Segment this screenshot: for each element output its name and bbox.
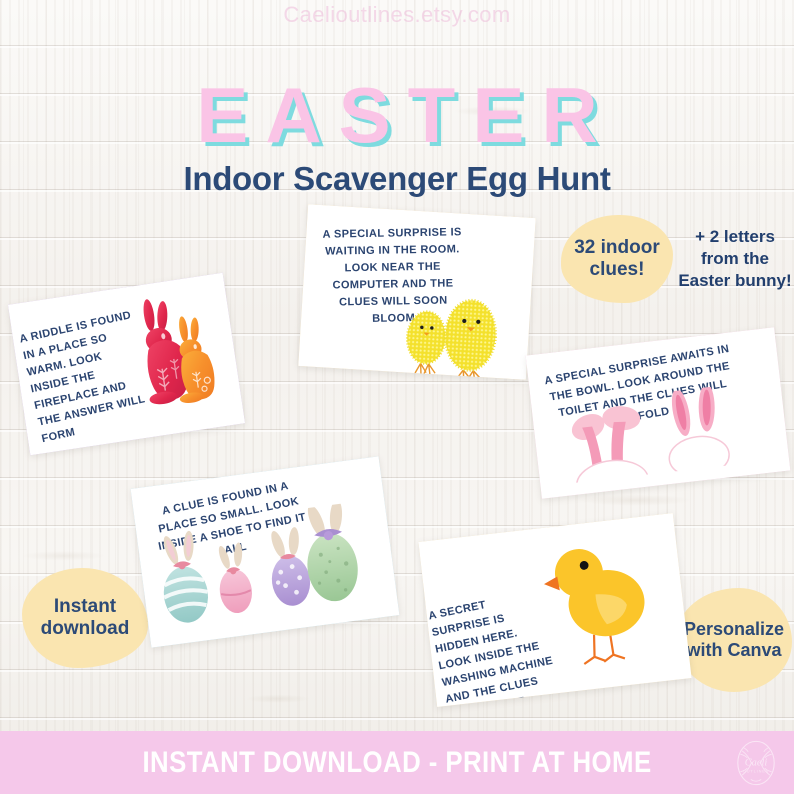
brand-logo: Caeli OUTLINES xyxy=(730,737,782,789)
clue-card-bunny-ears: A SPECIAL SURPRISE AWAITS IN THE BOWL. L… xyxy=(526,327,791,498)
card-inner: A RIDDLE IS FOUND IN A PLACE SO WARM. LO… xyxy=(8,273,245,455)
clue-card-bunnies: A RIDDLE IS FOUND IN A PLACE SO WARM. LO… xyxy=(8,273,245,455)
letters-note: + 2 letters from the Easter bunny! xyxy=(676,226,794,291)
fuzzy-chicks-art xyxy=(394,284,511,380)
card-inner: A SECRET SURPRISE IS HIDDEN HERE. LOOK I… xyxy=(418,513,691,707)
badge-indoor-clues: 32 indoor clues! xyxy=(561,215,673,303)
clue-card-chicks: A SPECIAL SURPRISE IS WAITING IN THE ROO… xyxy=(298,204,535,380)
page-title: EASTER xyxy=(0,78,794,152)
card-inner: A SPECIAL SURPRISE AWAITS IN THE BOWL. L… xyxy=(526,327,791,498)
card-inner: A CLUE IS FOUND IN A PLACE SO SMALL. LOO… xyxy=(131,456,400,647)
watercolor-bunnies-art xyxy=(127,289,226,418)
card-inner: A SPECIAL SURPRISE IS WAITING IN THE ROO… xyxy=(298,204,535,380)
bottom-banner: INSTANT DOWNLOAD - PRINT AT HOME Caeli O… xyxy=(0,731,794,794)
title-block: EASTER Indoor Scavenger Egg Hunt xyxy=(0,78,794,198)
clue-text: A SECRET SURPRISE IS HIDDEN HERE. LOOK I… xyxy=(427,586,563,707)
svg-text:OUTLINES: OUTLINES xyxy=(743,769,769,774)
watermark-text: Caelioutlines.etsy.com xyxy=(0,2,794,28)
svg-text:Caeli: Caeli xyxy=(745,758,768,769)
clue-card-big-chick: A SECRET SURPRISE IS HIDDEN HERE. LOOK I… xyxy=(418,513,691,707)
yellow-chick-art xyxy=(537,532,663,672)
clue-card-eggs: A CLUE IS FOUND IN A PLACE SO SMALL. LOO… xyxy=(131,456,400,647)
badge-personalize-canva: Personalize with Canva xyxy=(676,588,792,692)
banner-text: INSTANT DOWNLOAD - PRINT AT HOME xyxy=(142,746,651,780)
page-subtitle: Indoor Scavenger Egg Hunt xyxy=(0,160,794,198)
